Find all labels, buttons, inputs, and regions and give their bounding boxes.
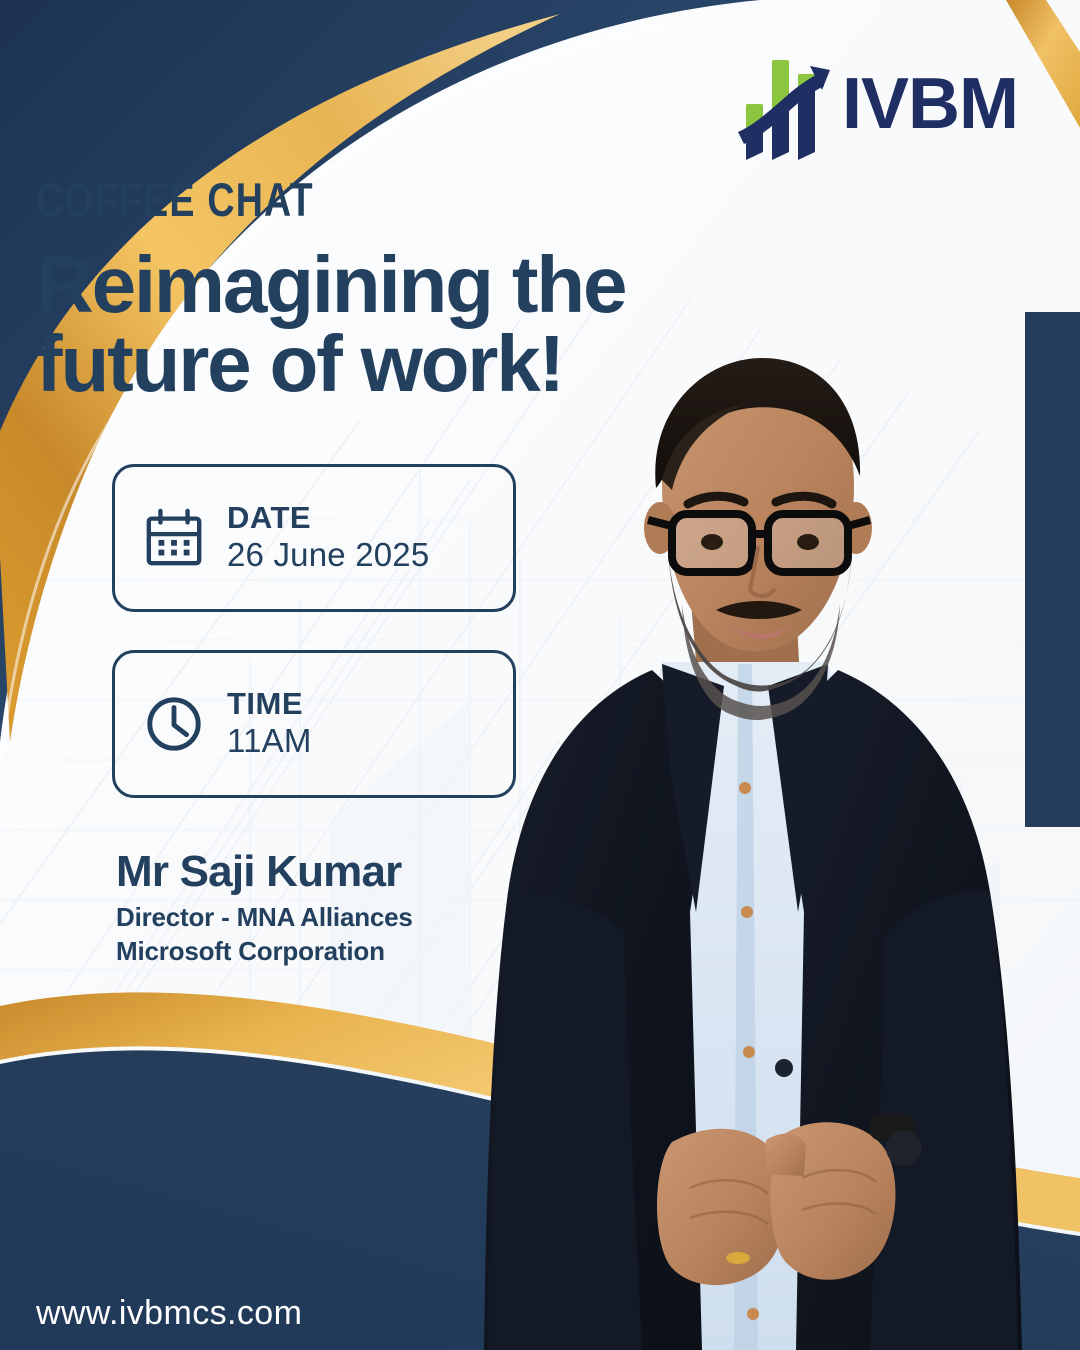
time-card-text: TIME 11AM — [227, 687, 312, 761]
date-card-text: DATE 26 June 2025 — [227, 501, 429, 575]
date-value: 26 June 2025 — [227, 536, 429, 575]
clock-icon — [143, 693, 205, 755]
date-label: DATE — [227, 501, 429, 536]
time-value: 11AM — [227, 722, 312, 761]
kicker-text: COFFEE CHAT — [36, 176, 612, 223]
time-card: TIME 11AM — [112, 650, 516, 798]
speaker-name: Mr Saji Kumar — [116, 848, 546, 896]
speaker-portrait — [466, 352, 1080, 1350]
event-flyer: IVBM COFFEE CHAT Reimagining the future … — [0, 0, 1080, 1350]
speaker-role: Director - MNA Alliances — [116, 900, 546, 934]
time-label: TIME — [227, 687, 312, 722]
date-card: DATE 26 June 2025 — [112, 464, 516, 612]
brand-logo: IVBM — [732, 48, 1018, 160]
calendar-icon — [143, 507, 205, 569]
logo-wordmark: IVBM — [842, 68, 1018, 140]
ivbm-bar-chart-arrow-logo — [732, 48, 836, 160]
website-url[interactable]: www.ivbmcs.com — [36, 1294, 302, 1333]
speaker-info: Mr Saji Kumar Director - MNA Alliances M… — [116, 848, 546, 968]
speaker-organization: Microsoft Corporation — [116, 934, 546, 968]
